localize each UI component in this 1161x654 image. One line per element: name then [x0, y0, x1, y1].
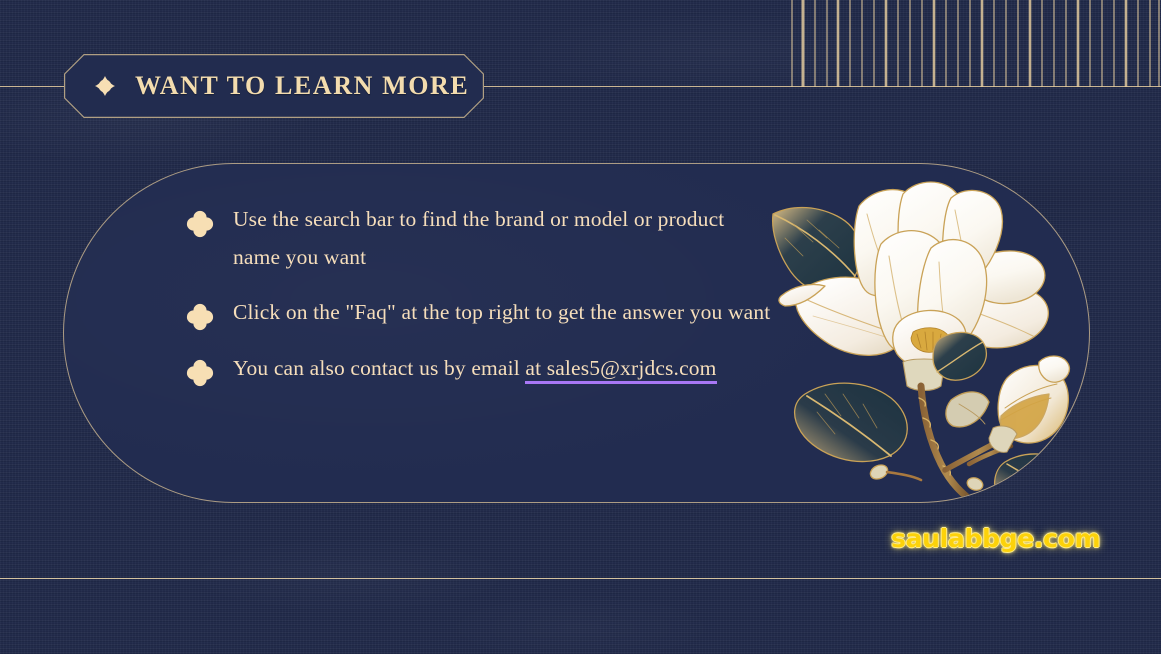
diamond-quatrefoil-icon	[94, 75, 116, 97]
watermark: saulabbge.com	[891, 524, 1100, 553]
gold-rule-bottom	[0, 578, 1161, 579]
section-title-badge: WANT TO LEARN MORE	[64, 54, 484, 118]
quatrefoil-bullet-icon	[185, 302, 215, 332]
email-link[interactable]: at sales5@xrjdcs.com	[525, 356, 716, 384]
list-item-text: Use the search bar to find the brand or …	[233, 200, 773, 276]
slide-canvas: WANT TO LEARN MORE	[0, 0, 1161, 654]
list-item: Click on the "Faq" at the top right to g…	[185, 293, 785, 332]
vertical-line-pattern-decoration	[790, 0, 1161, 87]
badge-content: WANT TO LEARN MORE	[64, 54, 484, 118]
info-panel: Use the search bar to find the brand or …	[63, 163, 1090, 503]
list-item-text: Click on the "Faq" at the top right to g…	[233, 293, 770, 331]
list-item: Use the search bar to find the brand or …	[185, 200, 785, 276]
list-item: You can also contact us by email at sale…	[185, 349, 785, 388]
list-item-text: You can also contact us by email at sale…	[233, 349, 717, 387]
quatrefoil-bullet-icon	[185, 209, 215, 239]
magnolia-flower-illustration	[755, 172, 1090, 502]
quatrefoil-bullet-icon	[185, 358, 215, 388]
instruction-list: Use the search bar to find the brand or …	[185, 200, 785, 388]
page-title: WANT TO LEARN MORE	[135, 71, 469, 101]
gold-rule-top-right	[484, 86, 1161, 87]
contact-text-prefix: You can also contact us by email	[233, 356, 525, 380]
gold-rule-top-left	[0, 86, 66, 87]
